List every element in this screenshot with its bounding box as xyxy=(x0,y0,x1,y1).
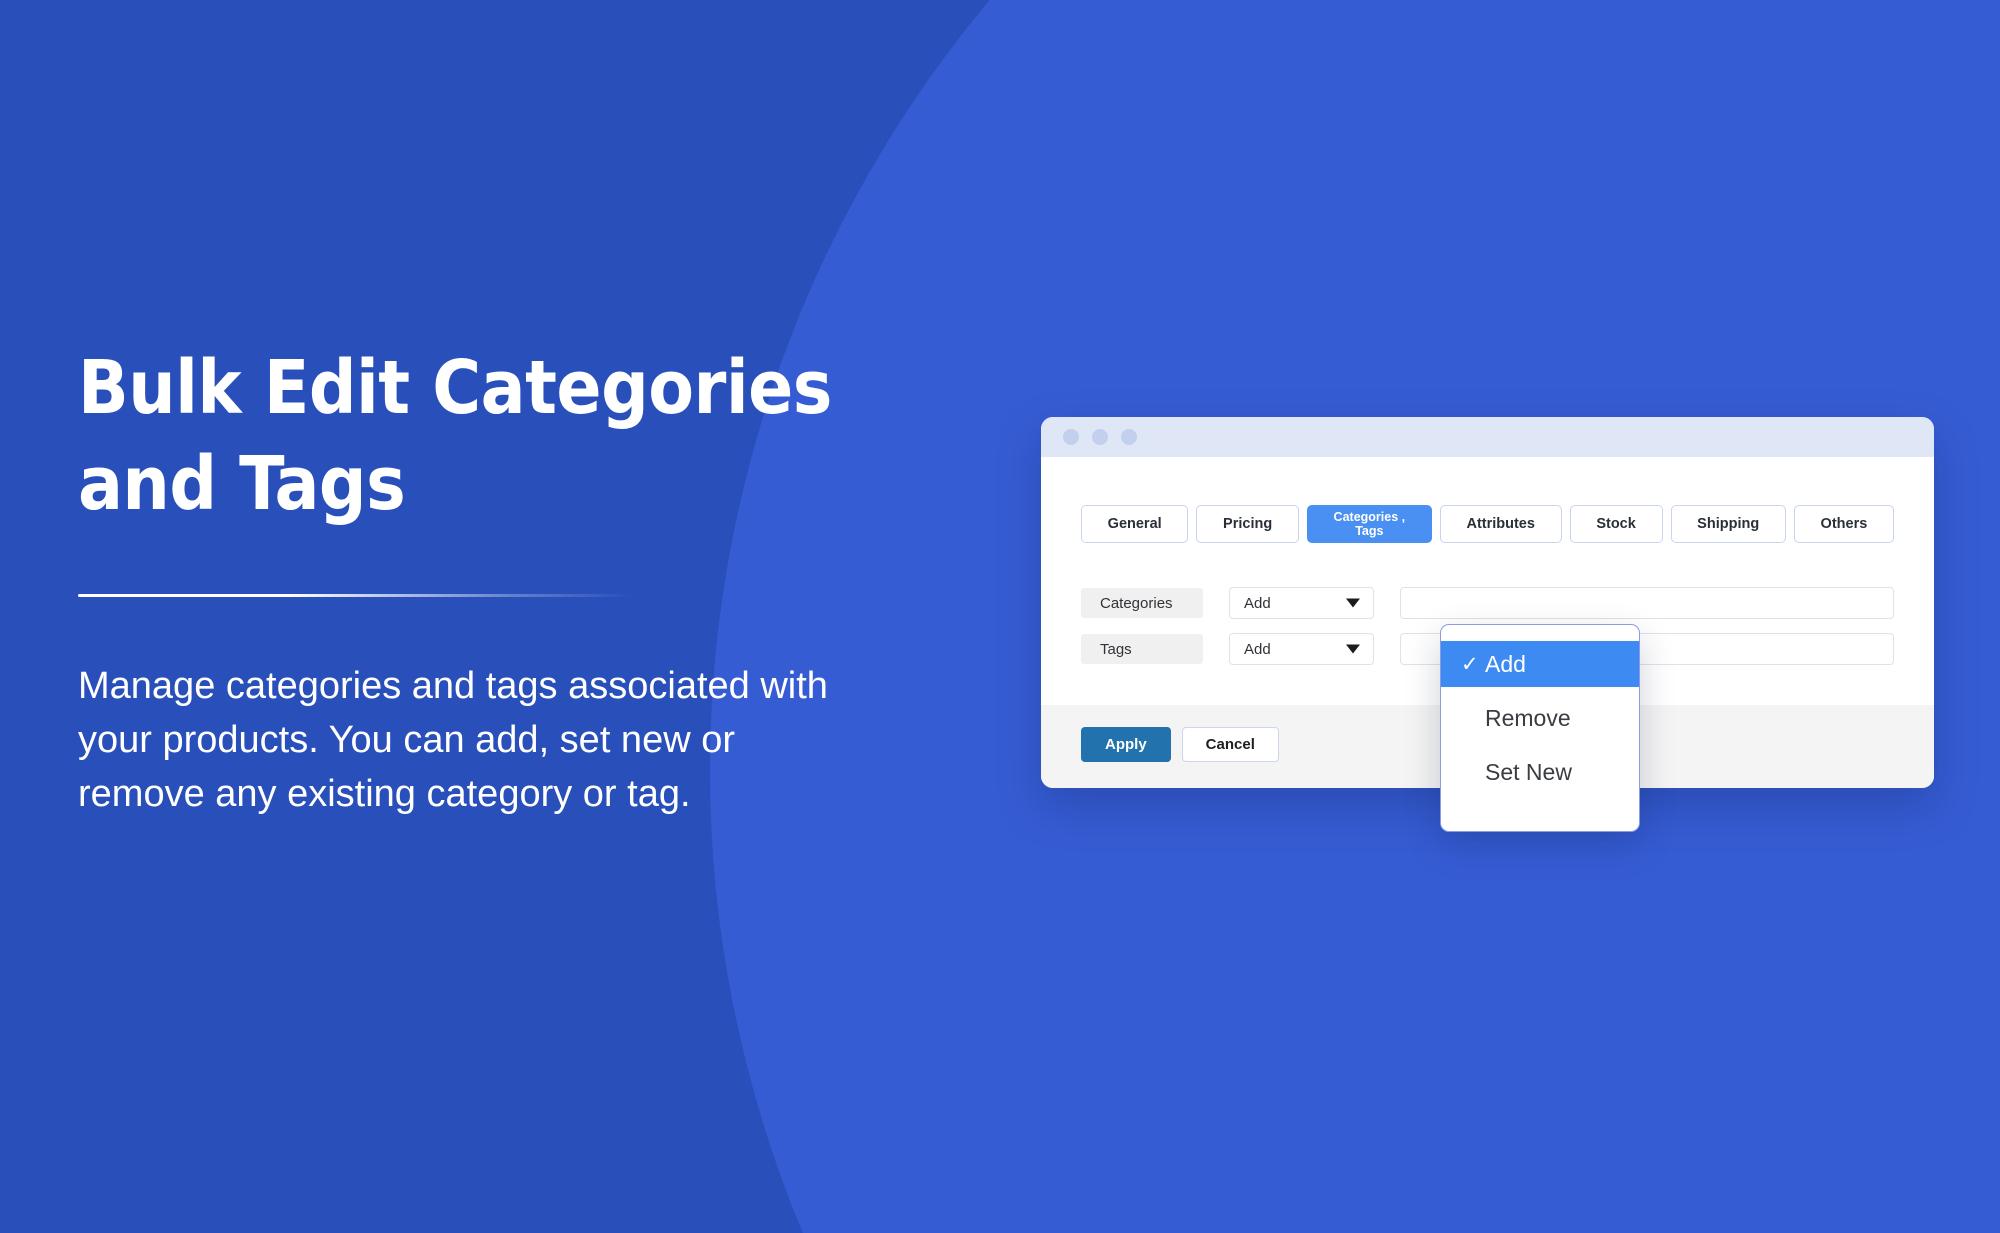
tab-others[interactable]: Others xyxy=(1794,505,1894,543)
hero-description: Manage categories and tags associated wi… xyxy=(78,659,878,821)
categories-value-input[interactable] xyxy=(1400,587,1894,619)
window-titlebar xyxy=(1041,417,1934,457)
title-divider xyxy=(78,594,633,597)
promo-banner: Bulk Edit Categories and Tags Manage cat… xyxy=(0,0,2000,1233)
tags-action-value: Add xyxy=(1244,641,1271,658)
action-dropdown-menu: ✓ Add Remove Set New xyxy=(1440,624,1640,832)
window-minimize-dot-icon[interactable] xyxy=(1092,429,1108,445)
tab-stock[interactable]: Stock xyxy=(1570,505,1663,543)
hero-text-panel: Bulk Edit Categories and Tags Manage cat… xyxy=(78,340,938,821)
tab-general[interactable]: General xyxy=(1081,505,1188,543)
tab-bar: General Pricing Categories , Tags Attrib… xyxy=(1081,505,1894,543)
categories-action-select[interactable]: Add xyxy=(1229,587,1374,619)
tags-action-select[interactable]: Add xyxy=(1229,633,1374,665)
menu-item-add[interactable]: ✓ Add xyxy=(1441,641,1639,687)
tab-shipping[interactable]: Shipping xyxy=(1671,505,1786,543)
menu-item-remove-label: Remove xyxy=(1485,705,1571,732)
menu-item-set-new[interactable]: Set New xyxy=(1441,749,1639,795)
window-close-dot-icon[interactable] xyxy=(1063,429,1079,445)
check-icon: ✓ xyxy=(1461,652,1485,677)
tab-categories-tags[interactable]: Categories , Tags xyxy=(1307,505,1432,543)
page-title: Bulk Edit Categories and Tags xyxy=(78,340,938,532)
categories-action-value: Add xyxy=(1244,595,1271,612)
chevron-down-icon xyxy=(1346,645,1360,654)
tab-attributes[interactable]: Attributes xyxy=(1440,505,1562,543)
chevron-down-icon xyxy=(1346,599,1360,608)
tags-label: Tags xyxy=(1081,634,1203,664)
tab-pricing[interactable]: Pricing xyxy=(1196,505,1299,543)
menu-item-remove[interactable]: Remove xyxy=(1441,695,1639,741)
form-row-categories: Categories Add xyxy=(1081,587,1894,619)
window-maximize-dot-icon[interactable] xyxy=(1121,429,1137,445)
menu-item-add-label: Add xyxy=(1485,651,1526,678)
cancel-button[interactable]: Cancel xyxy=(1182,727,1279,762)
apply-button[interactable]: Apply xyxy=(1081,727,1171,762)
menu-item-set-new-label: Set New xyxy=(1485,759,1572,786)
categories-label: Categories xyxy=(1081,588,1203,618)
